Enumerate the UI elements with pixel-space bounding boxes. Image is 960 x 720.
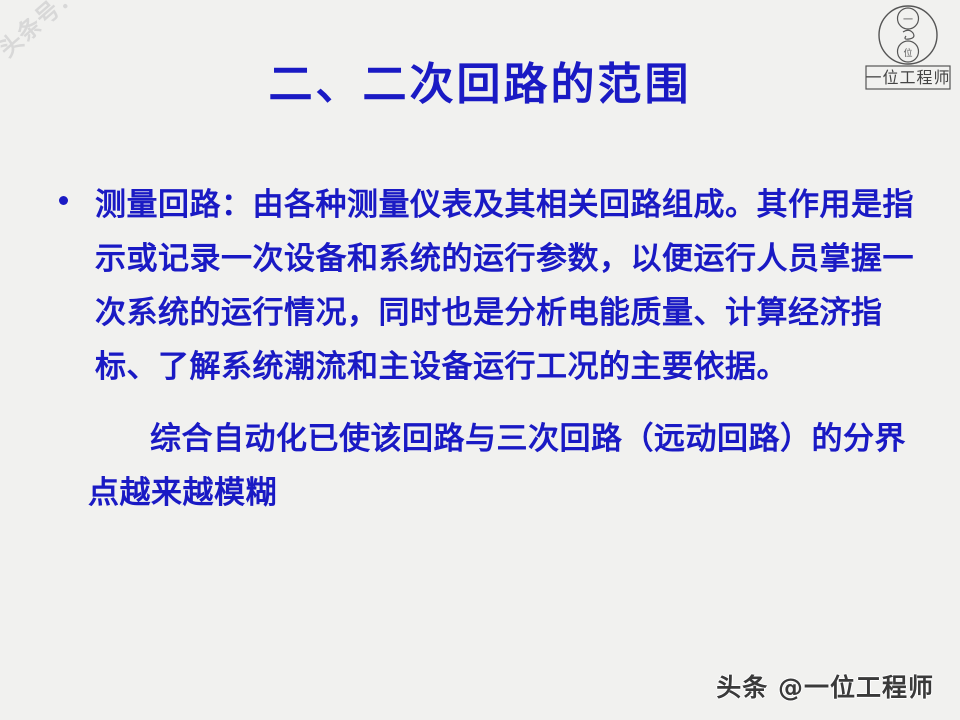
footer-watermark: 头条 @一位工程师 [716,668,934,704]
presentation-slide: 头条号：一位工程师 一 位 一位工程师 二、二次回路的范围 测量回路：由各种测量… [0,0,960,720]
diagonal-watermark: 头条号：一位工程师 [0,0,209,64]
bullet-item: 测量回路：由各种测量仪表及其相关回路组成。其作用是指示或记录一次设备和系统的运行… [0,178,960,394]
paragraph-measurement-circuit: 测量回路：由各种测量仪表及其相关回路组成。其作用是指示或记录一次设备和系统的运行… [95,178,920,394]
paragraph-block-secondary: 综合自动化已使该回路与三次回路（远动回路）的分界点越来越模糊 [0,412,960,520]
page-title: 二、二次回路的范围 [0,59,960,112]
svg-text:一: 一 [903,15,913,26]
slide-body: 测量回路：由各种测量仪表及其相关回路组成。其作用是指示或记录一次设备和系统的运行… [0,178,960,520]
paragraph-automation-note: 综合自动化已使该回路与三次回路（远动回路）的分界点越来越模糊 [88,412,920,520]
svg-text:位: 位 [903,47,912,59]
bullet-dot-icon [59,196,68,205]
